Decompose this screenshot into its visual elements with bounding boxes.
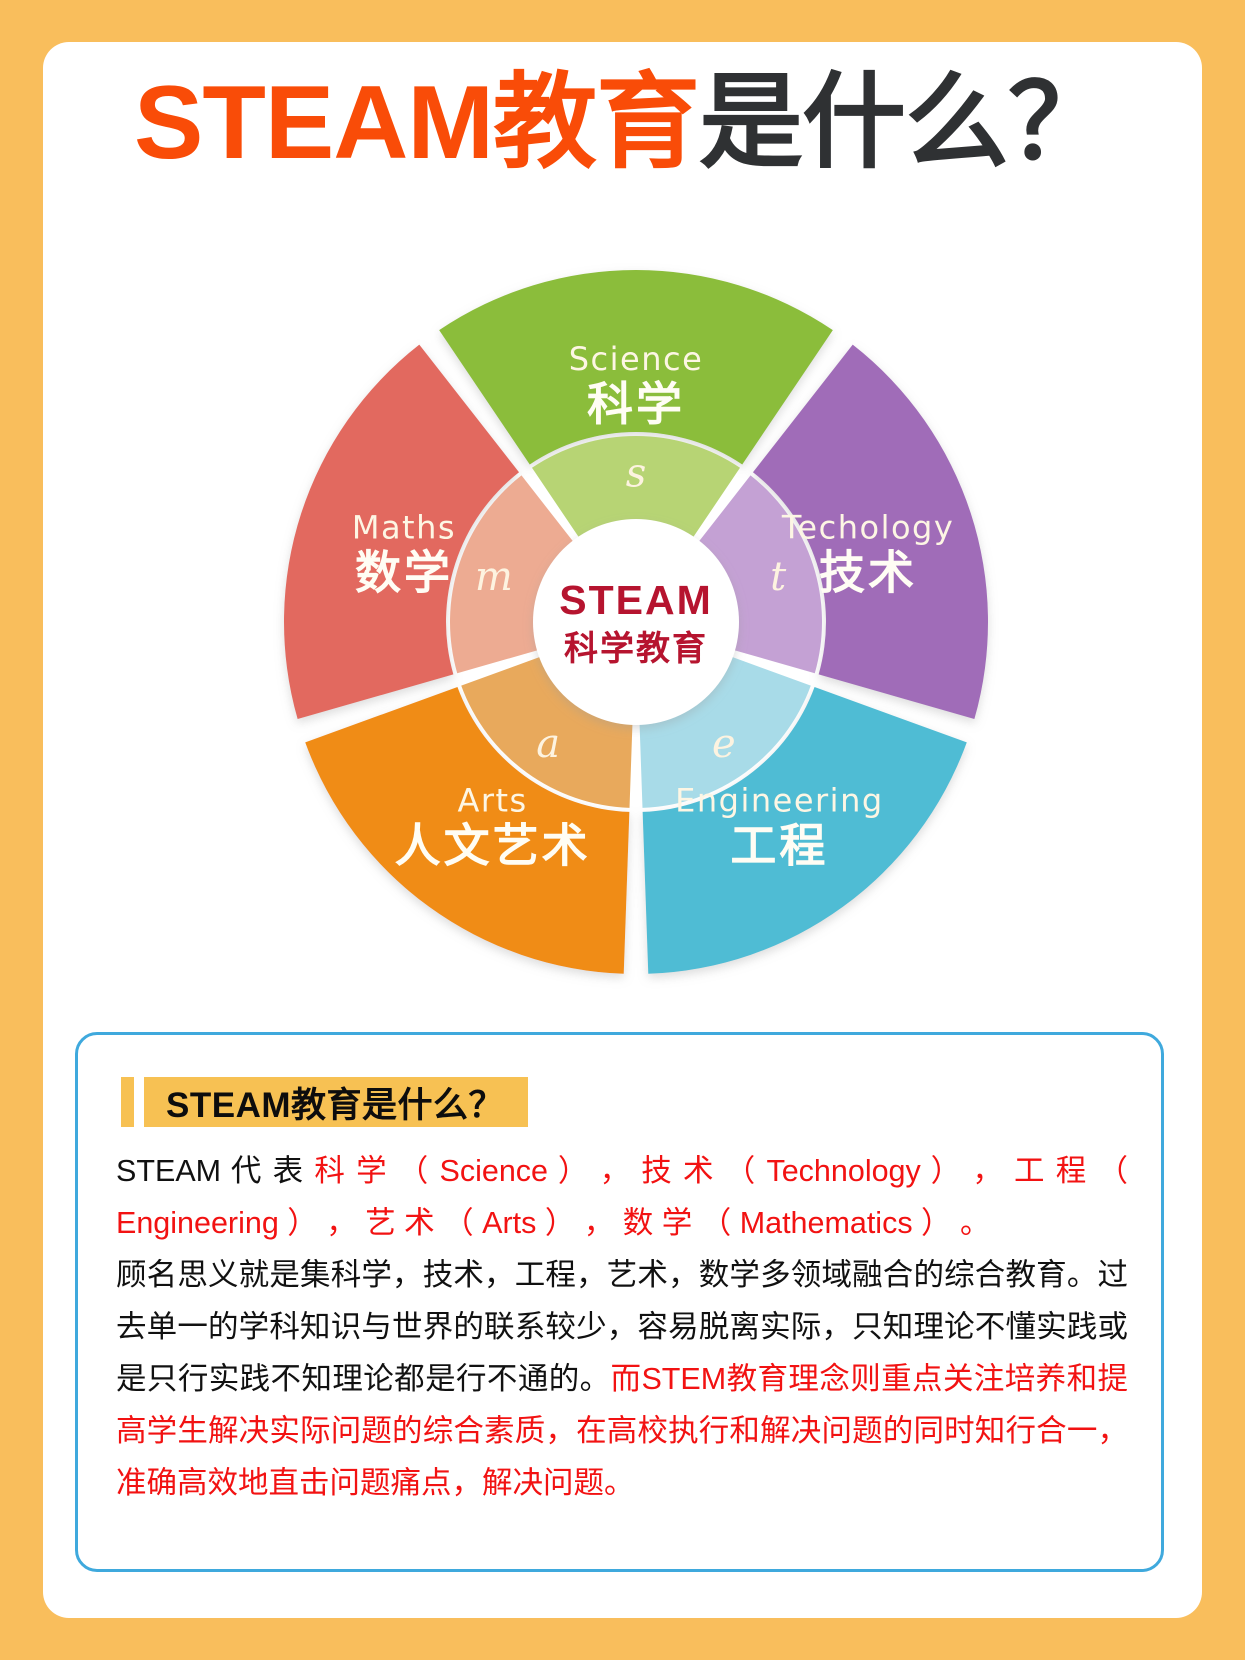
segment-label-en-maths: Maths xyxy=(352,509,456,547)
inner-letter-technology: t xyxy=(770,554,787,600)
content-card: STEAM教育是什么？ STEAM 科学教育 Science科学Techolog… xyxy=(43,42,1202,1618)
segment-label-cn-arts: 人文艺术 xyxy=(395,819,591,871)
segment-label-cn-science: 科学 xyxy=(587,378,685,430)
steam-wheel-svg: STEAM 科学教育 Science科学Techology技术Engineeri… xyxy=(236,222,1036,1022)
segment-label-cn-maths: 数学 xyxy=(355,547,453,599)
inner-letter-engineering: e xyxy=(712,721,736,767)
steam-wheel-diagram: STEAM 科学教育 Science科学Techology技术Engineeri… xyxy=(236,222,1036,1022)
segment-label-en-science: Science xyxy=(569,340,704,378)
page-title: STEAM教育是什么？ xyxy=(43,58,1202,188)
segment-label-cn-engineering: 工程 xyxy=(730,819,828,871)
run-definition-black: STEAM 代 表 xyxy=(116,1154,314,1188)
wheel-core-label-en: STEAM xyxy=(559,577,713,623)
section-heading-text: STEAM教育是什么？ xyxy=(166,1077,504,1128)
segment-label-en-technology: Techology xyxy=(781,509,954,547)
info-body-copy: STEAM 代 表 科 学 （ Science ） ， 技 术 （ Techno… xyxy=(116,1145,1128,1509)
heading-tick-bar xyxy=(121,1077,134,1127)
paragraph-definition: STEAM 代 表 科 学 （ Science ） ， 技 术 （ Techno… xyxy=(116,1145,1128,1249)
poster-root: STEAM教育是什么？ STEAM 科学教育 Science科学Techolog… xyxy=(0,0,1245,1660)
page-title-accent: STEAM教育 xyxy=(134,65,699,181)
page-title-dark: 是什么？ xyxy=(699,65,1111,181)
inner-letter-maths: m xyxy=(475,554,513,600)
wheel-core-label-cn: 科学教育 xyxy=(564,629,708,668)
segment-label-en-engineering: Engineering xyxy=(675,781,884,819)
inner-letter-arts: a xyxy=(536,721,560,767)
section-heading: STEAM教育是什么？ xyxy=(121,1077,528,1127)
segment-label-cn-technology: 技术 xyxy=(819,547,917,599)
info-panel: STEAM教育是什么？ STEAM 代 表 科 学 （ Science ） ， … xyxy=(75,1032,1164,1572)
paragraph-explanation: 顾名思义就是集科学，技术，工程，艺术，数学多领域融合的综合教育。过去单一的学科知… xyxy=(116,1249,1128,1509)
inner-letter-science: s xyxy=(626,451,647,497)
segment-label-en-arts: Arts xyxy=(457,781,527,819)
heading-highlight-chip: STEAM教育是什么？ xyxy=(144,1077,528,1127)
